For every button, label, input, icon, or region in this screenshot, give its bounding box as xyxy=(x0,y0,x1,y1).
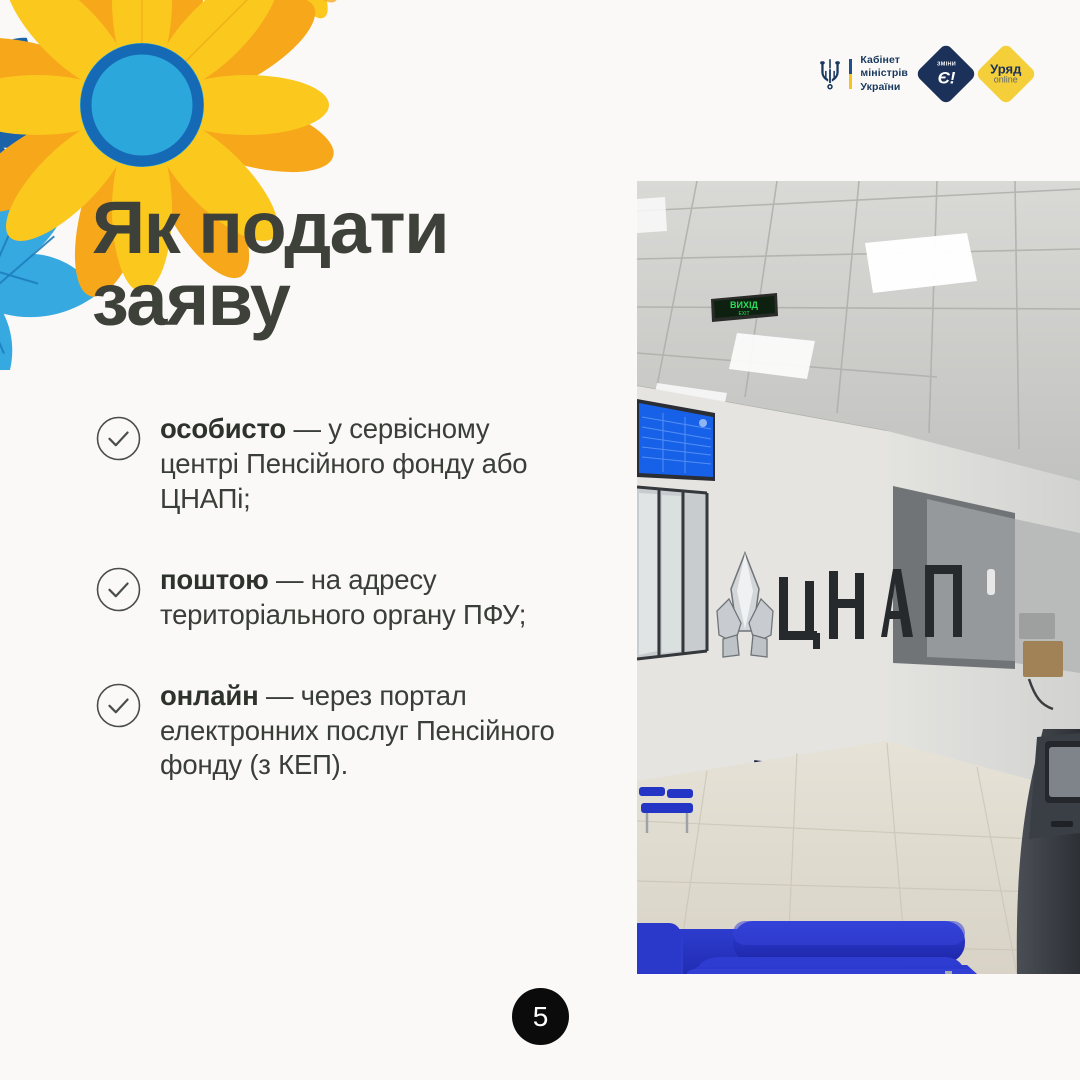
zminy-top-label: ЗМІНИ xyxy=(937,62,956,68)
zminy-main-label: Є! xyxy=(937,69,956,86)
list-item-text: поштою — на адресу територіального орган… xyxy=(160,563,566,633)
list-item: поштою — на адресу територіального орган… xyxy=(96,563,566,633)
check-circle-icon xyxy=(96,416,141,461)
photo-illustration: ВИХІД EXIT xyxy=(637,181,1080,974)
check-circle-icon xyxy=(96,683,141,728)
list-item: онлайн — через портал електронних послуг… xyxy=(96,679,566,784)
uryad-online-diamond-icon[interactable]: Уряд online xyxy=(975,43,1037,105)
list-item-lead: онлайн xyxy=(160,680,259,711)
list-item: особисто — у сервісному центрі Пенсійног… xyxy=(96,412,566,517)
page-number-badge: 5 xyxy=(512,988,569,1045)
bullet-list: особисто — у сервісному центрі Пенсійног… xyxy=(96,412,566,829)
slide-canvas: Кабінет міністрів України ЗМІНИ Є! Уряд … xyxy=(0,0,1080,1080)
cabinet-of-ministers-label: Кабінет міністрів України xyxy=(860,54,908,93)
info-display xyxy=(637,399,715,481)
office-interior-photo: ВИХІД EXIT xyxy=(637,181,1080,974)
ukraine-trident-icon xyxy=(819,58,841,90)
list-item-text: особисто — у сервісному центрі Пенсійног… xyxy=(160,412,566,517)
svg-text:EXIT: EXIT xyxy=(738,311,749,317)
svg-text:ВИХІД: ВИХІД xyxy=(730,300,758,310)
list-item-text: онлайн — через портал електронних послуг… xyxy=(160,679,566,784)
check-circle-icon xyxy=(96,567,141,612)
page-title: Як подати заяву xyxy=(92,192,592,336)
uryad-sub-label: online xyxy=(990,76,1021,85)
zminy-ye-diamond-icon[interactable]: ЗМІНИ Є! xyxy=(915,43,977,105)
list-item-lead: особисто xyxy=(160,413,286,444)
leaf-dark-icon xyxy=(0,0,91,229)
logo-divider xyxy=(849,59,852,89)
sunflower-small-icon xyxy=(207,0,363,28)
logo-bar: Кабінет міністрів України ЗМІНИ Є! Уряд … xyxy=(819,52,1028,96)
cabinet-of-ministers-logo: Кабінет міністрів України xyxy=(819,54,908,93)
list-item-lead: поштою xyxy=(160,564,269,595)
